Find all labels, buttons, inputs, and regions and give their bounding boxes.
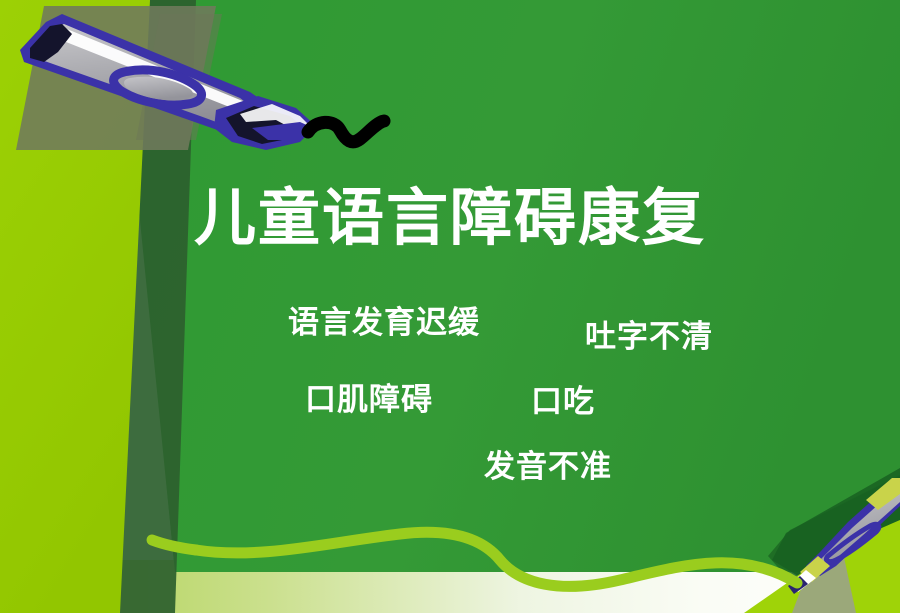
green-board-main <box>118 0 900 572</box>
poster-canvas: 儿童语言障碍康复 语言发育迟缓 吐字不清 口肌障碍 口吃 发音不准 <box>0 0 900 613</box>
poster-artwork <box>0 0 900 613</box>
